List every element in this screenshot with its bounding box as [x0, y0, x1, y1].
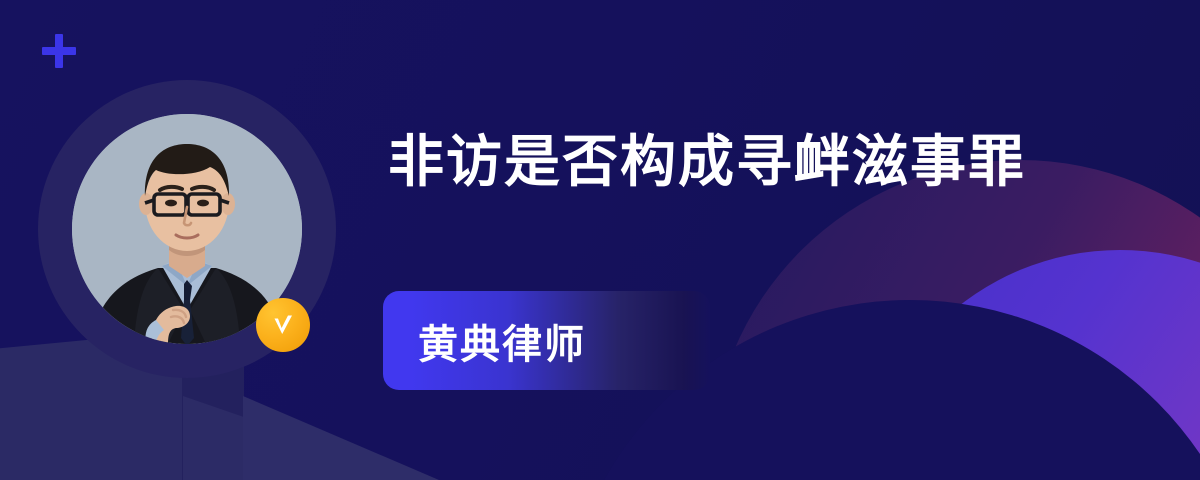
plus-icon-vertical-bar [55, 34, 63, 68]
check-glyph [268, 310, 298, 340]
verified-check-icon [256, 298, 310, 352]
plus-icon [42, 34, 76, 68]
avatar [38, 80, 336, 378]
page-title: 非访是否构成寻衅滋事罪 [388, 128, 1026, 195]
lawyer-video-banner: 非访是否构成寻衅滋事罪 黄典律师 [0, 0, 1200, 480]
lawyer-name-button[interactable]: 黄典律师 [383, 291, 710, 390]
lawyer-name-label: 黄典律师 [418, 312, 586, 370]
